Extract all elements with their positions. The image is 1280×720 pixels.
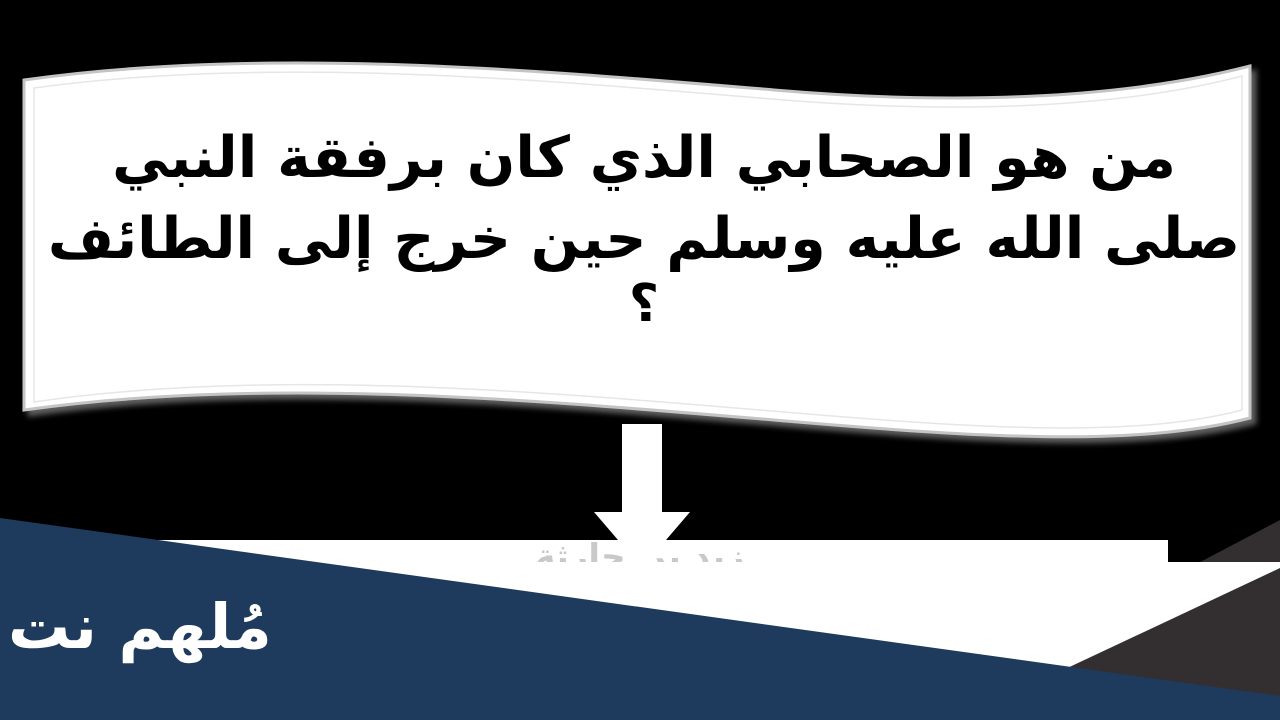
question-mark: ؟ xyxy=(44,276,1244,333)
question-line-2: صلى الله عليه وسلم حين خرج إلى الطائف xyxy=(44,199,1244,280)
question-card: من هو الصحابي الذي كان برفقة النبي صلى ا… xyxy=(14,36,1264,456)
slide-canvas: زيد بن حارثة من هو الصحابي الذي كان برفق… xyxy=(0,0,1280,720)
question-text-block: من هو الصحابي الذي كان برفقة النبي صلى ا… xyxy=(44,118,1244,333)
watermark-logo: مُلهم نت xyxy=(8,596,272,658)
question-line-1: من هو الصحابي الذي كان برفقة النبي xyxy=(44,118,1244,199)
